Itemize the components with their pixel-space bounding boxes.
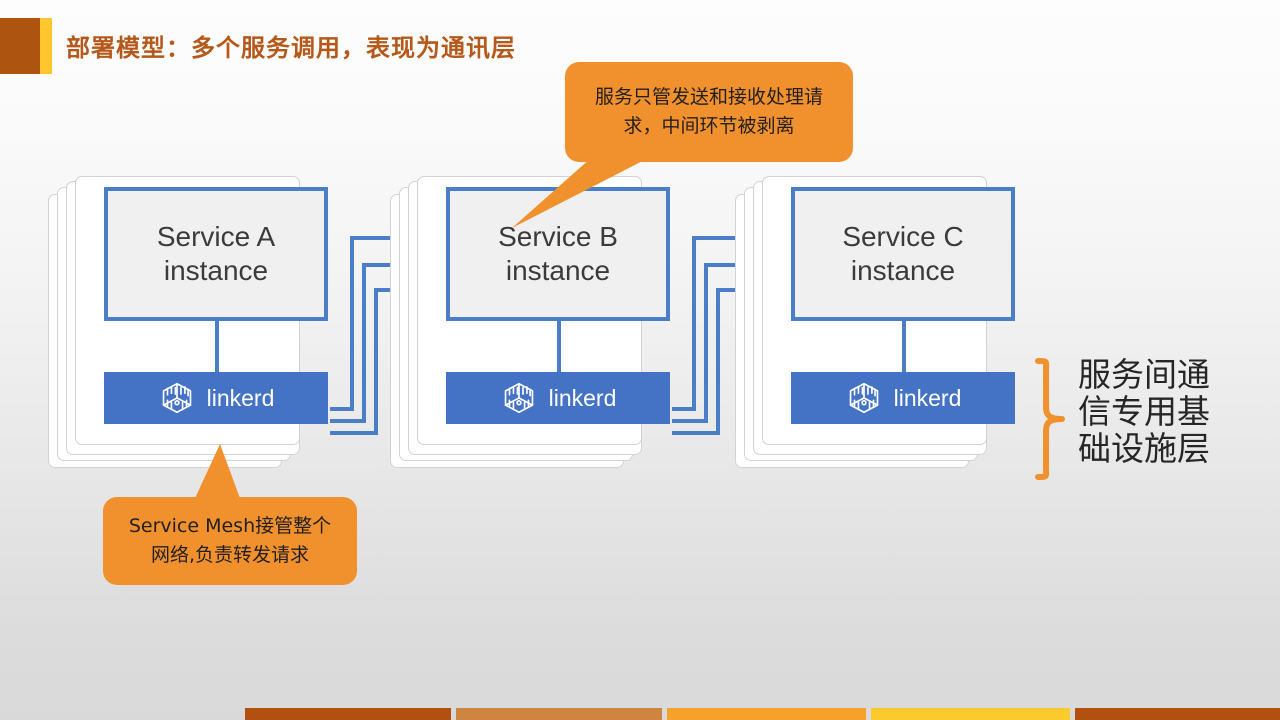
callout-line-2: 求，中间环节被剥离 — [581, 112, 837, 141]
title-accent-bar — [40, 18, 52, 74]
service-instance-label: Service A instance — [108, 220, 324, 288]
service-instance-line: instance — [450, 254, 666, 288]
brace-label-line-3: 础设施层 — [1078, 430, 1278, 467]
instance-to-sidecar-connector — [215, 321, 219, 372]
footer-segment-3 — [667, 708, 866, 720]
service-instance-box: Service A instance — [104, 187, 328, 321]
slide-canvas: 部署模型：多个服务调用，表现为通讯层 Service A instance — [0, 0, 1280, 720]
linkerd-logo-icon — [158, 379, 196, 417]
callout-service-mesh[interactable]: Service Mesh接管整个 网络,负责转发请求 — [103, 497, 357, 585]
footer-segment-5 — [1075, 708, 1280, 720]
linkerd-sidecar-bar[interactable]: linkerd — [104, 372, 328, 424]
callout-service-mesh-text: Service Mesh接管整个 网络,负责转发请求 — [103, 512, 357, 570]
service-instance-line: instance — [108, 254, 324, 288]
instance-to-sidecar-connector — [557, 321, 561, 372]
infrastructure-layer-label: 服务间通 信专用基 础设施层 — [1078, 356, 1278, 467]
service-card-b[interactable]: Service B instance linkerd — [390, 176, 640, 466]
linkerd-logo-icon — [500, 379, 538, 417]
linkerd-label: linkerd — [207, 385, 275, 412]
linkerd-logo-icon — [845, 379, 883, 417]
service-instance-label: Service C instance — [795, 220, 1011, 288]
title-color-block — [0, 18, 40, 74]
footer-segment-4 — [871, 708, 1070, 720]
service-instance-line: instance — [795, 254, 1011, 288]
brace-label-line-2: 信专用基 — [1078, 393, 1278, 430]
linkerd-label: linkerd — [894, 385, 962, 412]
service-card-a[interactable]: Service A instance linkerd — [48, 176, 298, 466]
footer-color-strip — [0, 708, 1280, 720]
linkerd-sidecar-bar[interactable]: linkerd — [446, 372, 670, 424]
service-name-line: Service C — [795, 220, 1011, 254]
callout-service-b-text: 服务只管发送和接收处理请 求，中间环节被剥离 — [565, 83, 853, 141]
service-instance-box: Service C instance — [791, 187, 1015, 321]
callout-line-1: Service Mesh接管整个 — [119, 512, 341, 541]
brace-label-line-1: 服务间通 — [1078, 356, 1278, 393]
footer-segment-1 — [245, 708, 451, 720]
callout-service-b[interactable]: 服务只管发送和接收处理请 求，中间环节被剥离 — [565, 62, 853, 162]
instance-to-sidecar-connector — [902, 321, 906, 372]
service-name-line: Service B — [450, 220, 666, 254]
linkerd-label: linkerd — [549, 385, 617, 412]
callout-line-1: 服务只管发送和接收处理请 — [581, 83, 837, 112]
service-instance-label: Service B instance — [450, 220, 666, 288]
callout-line-2: 网络,负责转发请求 — [119, 541, 341, 570]
service-name-line: Service A — [108, 220, 324, 254]
service-card-c[interactable]: Service C instance linkerd — [735, 176, 985, 466]
service-instance-box: Service B instance — [446, 187, 670, 321]
footer-segment-2 — [456, 708, 662, 720]
infrastructure-brace-icon — [1032, 358, 1068, 480]
page-title: 部署模型：多个服务调用，表现为通讯层 — [66, 28, 516, 63]
linkerd-sidecar-bar[interactable]: linkerd — [791, 372, 1015, 424]
